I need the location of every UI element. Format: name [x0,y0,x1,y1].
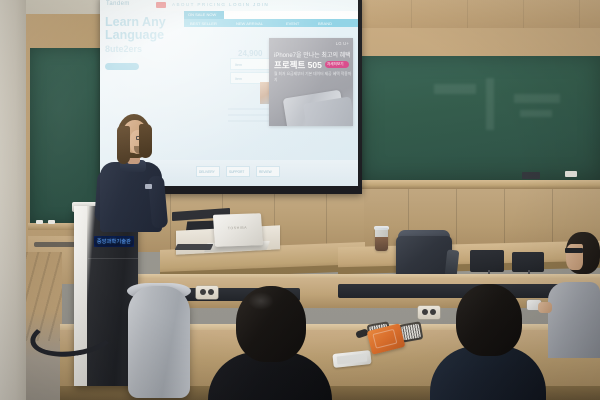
promo-pill-label: 자세히보기 [327,62,344,67]
footer-cell[interactable]: REVIEW [256,166,280,177]
list-item-label: Item [235,63,242,67]
chalk-piece-icon [565,171,577,177]
get-started-button[interactable] [105,63,139,70]
footer-cell-label: SUPPORT [229,170,244,174]
new-badge [156,2,166,8]
hero-subtitle: 8ute2ers [105,44,142,54]
student-3-body [548,282,600,358]
tab-event[interactable]: EVENT [286,21,299,26]
iced-coffee-cup[interactable] [375,228,388,251]
promo-line-1: iPhone7을 만나는 최고의 혜택 [274,50,351,59]
promo-line-2: 프로젝트 505 [274,59,322,71]
student-2-head [456,284,522,356]
bench-trim-right [338,284,574,298]
left-wall-pillar [0,0,26,400]
top-nav-links[interactable]: ABOUT PRICING LOGIN JOIN [172,2,269,7]
chalk-piece-icon [48,220,55,224]
site-logo: Tandem [106,1,130,7]
eraser-icon [522,172,540,179]
tab-brand[interactable]: BRAND [318,21,332,26]
hero-title: Learn Any Language [105,16,191,42]
footer-cell[interactable]: DELIVERY [196,166,220,177]
coffee-liquid [375,237,388,251]
lg-uplus-logo: LG U+ [336,41,349,46]
shirt-logo [145,184,152,189]
podium-led-display: 중앙과학기술관 [94,236,134,247]
tab-new-arrival[interactable]: NEW ARRIVAL [236,21,263,26]
tab-active-label: ON SALE NOW [188,12,216,17]
gray-stool[interactable] [128,286,190,398]
tab-best-seller[interactable]: BEST SELLER [190,21,217,26]
podium-led-text: 중앙과학기술관 [97,238,131,245]
promo-detail-button[interactable]: 자세히보기 [325,61,349,68]
footer-cell-label: REVIEW [259,170,272,174]
student-3-hand [538,302,552,313]
lecture-hall-photo: Tandem ABOUT PRICING LOGIN JOIN Learn An… [0,0,600,400]
promo-banner-lg-uplus[interactable]: LG U+ iPhone7을 만나는 최고의 혜택 프로젝트 505 자세히보기… [269,38,353,126]
chalk-piece-icon [36,220,43,224]
chair-back[interactable] [470,250,504,272]
product-price: 24,900 [238,49,262,58]
chair-back[interactable] [512,252,544,272]
laptop-brand-label: TOSHIBA [228,226,247,231]
promo-line-3: 월 최저 요금제부터 기본 데이터 제공 혜택 적용까지 [274,72,353,83]
podium-seam [88,258,138,259]
glasses-icon [565,248,583,253]
hair-highlight [248,292,274,310]
presenter-hair-strand [117,126,130,164]
right-chalk-ledge [360,180,600,189]
list-item-label: Item [235,77,242,81]
laptop[interactable]: TOSHIBA [213,213,263,247]
power-outlet[interactable] [418,306,440,319]
power-outlet[interactable] [196,286,218,299]
backpack-strap [445,249,460,276]
left-chalkboard [30,48,104,224]
right-chalkboard [362,56,600,180]
footer-cell[interactable]: SUPPORT [226,166,250,177]
secondary-tab-row[interactable]: BEST SELLER NEW ARRIVAL EVENT BRAND [184,19,358,27]
footer-cell-label: DELIVERY [199,170,215,174]
keyboard[interactable] [175,244,214,250]
podium-side-panel [74,206,87,386]
presenter-hair-strand [139,124,152,158]
